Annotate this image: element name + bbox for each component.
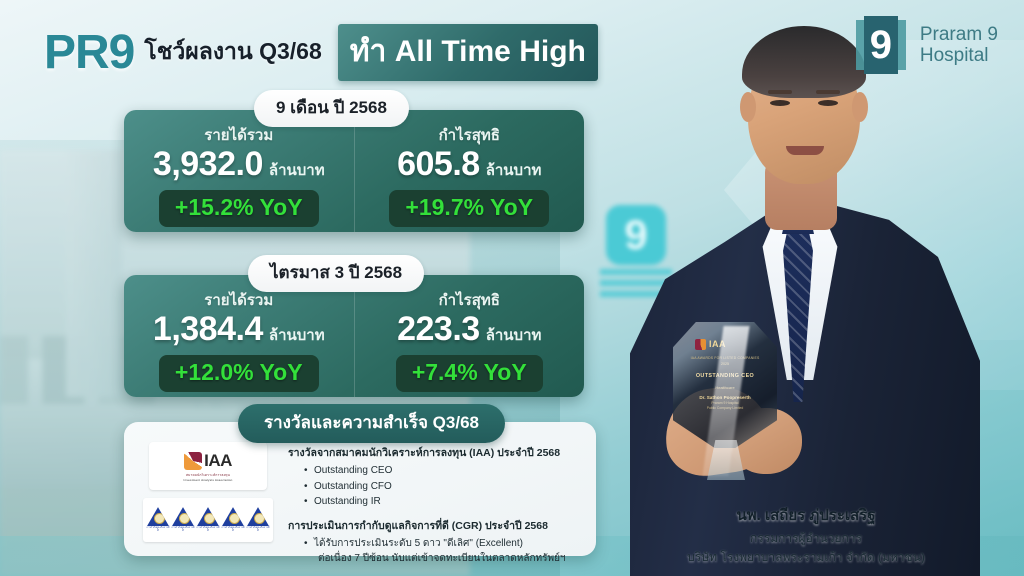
iaa-logo: IAA สมาคมนักวิเคราะห์การลงทุน Investment… — [149, 442, 267, 490]
cgr-caption: การกำกับดูแลกิจการที่ดี — [172, 527, 195, 533]
brand-ticker: PR9 — [44, 25, 134, 80]
cgr-star-2: การกำกับดูแลกิจการที่ดี — [172, 507, 195, 533]
bullet-icon: • — [304, 479, 314, 495]
hair — [742, 26, 866, 98]
infographic-canvas: ร.พ. พระราม 9 IAA — [0, 0, 1024, 576]
iaa-logo-top: IAA — [184, 451, 232, 471]
eyebrow-right — [816, 90, 840, 94]
cgr-star-1: การกำกับดูแลกิจการที่ดี — [147, 507, 170, 533]
awards-logo-column: IAA สมาคมนักวิเคราะห์การลงทุน Investment… — [138, 442, 278, 546]
stats-card-q3: รายได้รวม 1,384.4 ล้านบาท +12.0% YoY กำไ… — [124, 275, 584, 397]
eye-left — [770, 100, 790, 106]
metric-label: รายได้รวม — [204, 123, 273, 147]
awards-list-item: •ได้รับการประเมินระดับ 5 ดาว "ดีเลิศ" (E… — [304, 536, 582, 552]
metric-value-row: 605.8 ล้านบาท — [397, 147, 541, 182]
stats-card-nine-months: รายได้รวม 3,932.0 ล้านบาท +15.2% YoY กำไ… — [124, 110, 584, 232]
logo-line-1: Praram 9 — [920, 24, 998, 45]
cgr-caption: การกำกับดูแลกิจการที่ดี — [147, 527, 170, 533]
logo-mark: 9 — [852, 16, 910, 74]
metric-unit: ล้านบาท — [486, 158, 542, 182]
metric-value-row: 1,384.4 ล้านบาท — [153, 312, 325, 347]
headline-highlight: ทำ All Time High — [338, 24, 598, 81]
headline: PR9 โชว์ผลงาน Q3/68 ทำ All Time High — [44, 24, 598, 80]
awards-list-item: •Outstanding CFO — [304, 479, 582, 495]
awards-heading-iaa: รางวัลจากสมาคมนักวิเคราะห์การลงทุน (IAA)… — [288, 444, 582, 461]
metric-value: 3,932.0 — [153, 147, 263, 181]
period-pill-q3: ไตรมาส 3 ปี 2568 — [248, 255, 424, 292]
awards-item-label: Outstanding IR — [314, 496, 381, 507]
iaa-subtitle-en: Investment Analysts Association — [184, 478, 233, 482]
metric-block-revenue-9m: รายได้รวม 3,932.0 ล้านบาท +15.2% YoY — [124, 110, 354, 232]
awards-heading-cgr: การประเมินการกำกับดูแลกิจการที่ดี (CGR) … — [288, 517, 582, 534]
cgr-triangle-icon — [222, 507, 244, 526]
cgr-caption: การกำกับดูแลกิจการที่ดี — [222, 527, 245, 533]
executive-role: กรรมการผู้อำนวยการ — [604, 529, 1008, 548]
cgr-triangle-icon — [197, 507, 219, 526]
executive-organization: บริษัท โรงพยาบาลพระรามเก้า จำกัด (มหาชน) — [604, 548, 1008, 567]
awards-text-column: รางวัลจากสมาคมนักวิเคราะห์การลงทุน (IAA)… — [288, 442, 582, 546]
cgr-star-5: การกำกับดูแลกิจการที่ดี — [247, 507, 270, 533]
cgr-triangle-icon — [147, 507, 169, 526]
metric-value: 223.3 — [397, 312, 480, 346]
cgr-caption: การกำกับดูแลกิจการที่ดี — [247, 527, 270, 533]
metric-label: กำไรสุทธิ — [439, 288, 500, 312]
yoy-badge: +12.0% YoY — [159, 355, 319, 392]
iaa-swirl-icon — [184, 452, 202, 470]
awards-list-item: •Outstanding IR — [304, 494, 582, 510]
bullet-icon: • — [304, 494, 314, 510]
iaa-swirl-icon — [695, 339, 706, 350]
ear-right — [852, 92, 868, 122]
bullet-icon: • — [304, 463, 314, 479]
logo-wordmark: Praram 9 Hospital — [920, 24, 998, 67]
yoy-badge: +15.2% YoY — [159, 190, 319, 227]
executive-portrait — [590, 0, 1024, 576]
awards-item-label: Outstanding CFO — [314, 481, 392, 492]
awards-continuation-text: ต่อเนื่อง 7 ปีซ้อน นับแต่เข้าจดทะเบียนใน… — [318, 551, 582, 566]
metric-unit: ล้านบาท — [269, 323, 325, 347]
cgr-star-3: การกำกับดูแลกิจการที่ดี — [197, 507, 220, 533]
executive-caption: นพ. เสถียร ภู่ประเสริฐ กรรมการผู้อำนวยกา… — [604, 503, 1008, 567]
headline-subtitle: โชว์ผลงาน Q3/68 — [144, 34, 321, 70]
metric-block-profit-q3: กำไรสุทธิ 223.3 ล้านบาท +7.4% YoY — [354, 275, 585, 397]
logo-nine-glyph: 9 — [852, 16, 910, 74]
metric-block-revenue-q3: รายได้รวม 1,384.4 ล้านบาท +12.0% YoY — [124, 275, 354, 397]
metric-block-profit-9m: กำไรสุทธิ 605.8 ล้านบาท +19.7% YoY — [354, 110, 585, 232]
metric-value-row: 3,932.0 ล้านบาท — [153, 147, 325, 182]
awards-item-label: ได้รับการประเมินระดับ 5 ดาว "ดีเลิศ" (Ex… — [314, 538, 523, 549]
mouth — [786, 146, 824, 155]
cgr-logo-group: การกำกับดูแลกิจการที่ดี การกำกับดูแลกิจก… — [143, 498, 273, 542]
award-trophy: IAA IAA AWARDS FOR LISTED COMPANIES 2025… — [655, 322, 805, 482]
cgr-triangle-icon — [247, 507, 269, 526]
metric-unit: ล้านบาท — [269, 158, 325, 182]
metric-value-row: 223.3 ล้านบาท — [397, 312, 541, 347]
awards-list-item: •Outstanding CEO — [304, 463, 582, 479]
hospital-logo[interactable]: 9 Praram 9 Hospital — [852, 16, 998, 74]
iaa-letters: IAA — [204, 451, 232, 471]
ear-left — [740, 92, 756, 122]
period-pill-nine-months: 9 เดือน ปี 2568 — [254, 90, 409, 127]
executive-name: นพ. เสถียร ภู่ประเสริฐ — [604, 503, 1008, 527]
metric-value: 1,384.4 — [153, 312, 263, 346]
awards-section-pill: รางวัลและความสำเร็จ Q3/68 — [238, 404, 505, 443]
yoy-badge: +7.4% YoY — [396, 355, 543, 392]
logo-line-2: Hospital — [920, 45, 998, 66]
eye-right — [818, 100, 838, 106]
awards-item-label: Outstanding CEO — [314, 465, 392, 476]
bullet-icon: • — [304, 536, 314, 552]
cgr-caption: การกำกับดูแลกิจการที่ดี — [197, 527, 220, 533]
cgr-star-4: การกำกับดูแลกิจการที่ดี — [222, 507, 245, 533]
metric-unit: ล้านบาท — [486, 323, 542, 347]
metric-label: กำไรสุทธิ — [439, 123, 500, 147]
eyebrow-left — [768, 90, 792, 94]
metric-value: 605.8 — [397, 147, 480, 181]
yoy-badge: +19.7% YoY — [389, 190, 549, 227]
cgr-triangle-icon — [172, 507, 194, 526]
